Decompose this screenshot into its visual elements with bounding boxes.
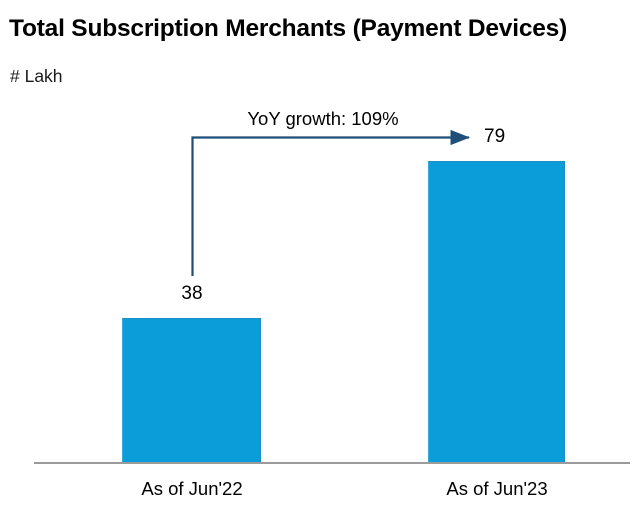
bar-jun23[interactable] [428, 161, 565, 462]
yoy-growth-annotation: YoY growth: 109% [223, 107, 423, 131]
bar-value-label-jun23: 79 [484, 126, 544, 148]
plot-area: 38 79 As of Jun'22 As of Jun'23 YoY grow… [0, 0, 640, 518]
category-label-jun22: As of Jun'22 [102, 477, 282, 501]
bar-value-label-jun22: 38 [152, 283, 232, 305]
baseline-axis [34, 462, 630, 464]
bar-jun22[interactable] [122, 318, 261, 462]
category-label-jun23: As of Jun'23 [407, 477, 587, 501]
bar-chart-figure: Total Subscription Merchants (Payment De… [0, 0, 640, 518]
